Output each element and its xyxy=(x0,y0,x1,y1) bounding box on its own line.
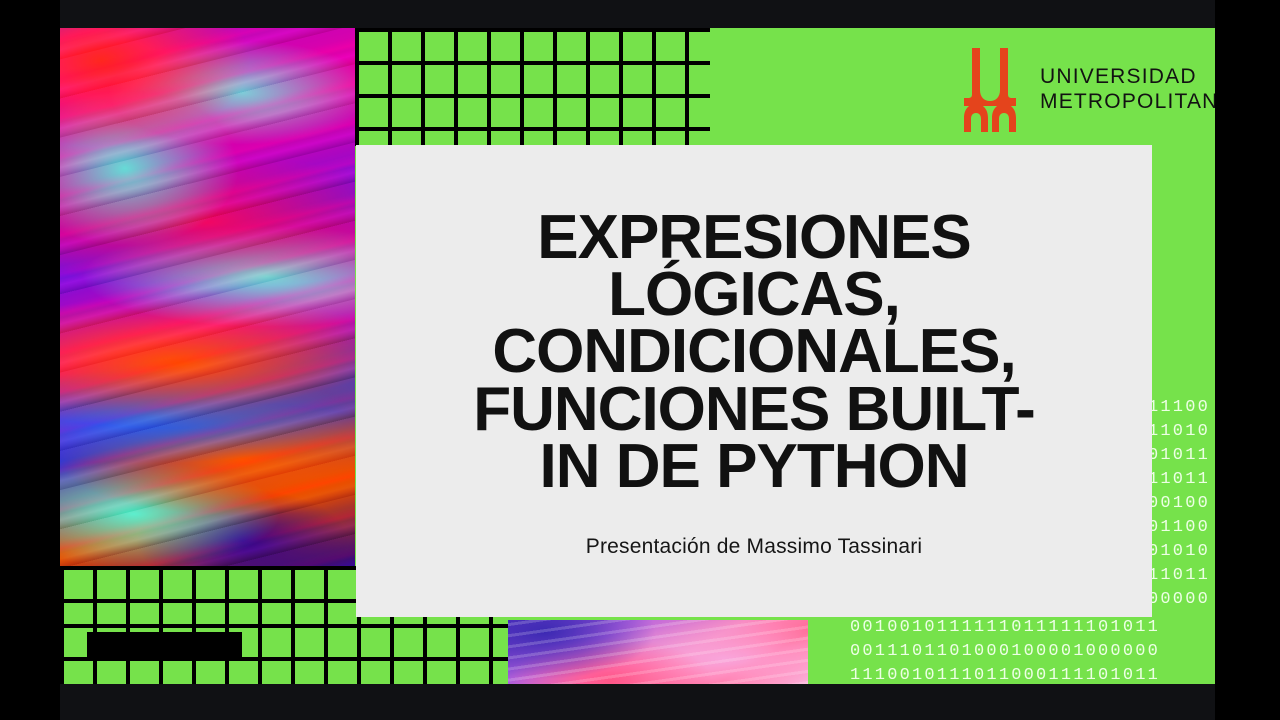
page-title-line: LÓGICAS, xyxy=(382,266,1126,323)
page-title-line: CONDICIONALES, xyxy=(382,323,1126,380)
marbled-fluid-art-bottom xyxy=(508,620,808,684)
green-black-grid-top xyxy=(355,28,710,146)
title-card: EXPRESIONES LÓGICAS, CONDICIONALES, FUNC… xyxy=(356,145,1152,617)
letterbox-bottom xyxy=(0,684,1280,720)
slide-viewer: 11100 11010 01011 11011 00100 01100 0101… xyxy=(0,0,1280,720)
presenter-subtitle: Presentación de Massimo Tassinari xyxy=(586,535,923,559)
page-title: EXPRESIONES LÓGICAS, CONDICIONALES, FUNC… xyxy=(382,209,1126,494)
black-rectangle-accent xyxy=(87,632,242,660)
binary-digits-right: 11100 11010 01011 11011 00100 01100 0101… xyxy=(1148,396,1215,628)
university-logo: UNIVERSIDAD METROPOLITANA xyxy=(960,46,1215,134)
unimet-arches-mark-icon xyxy=(960,46,1020,134)
page-title-line: FUNCIONES BUILT- xyxy=(382,381,1126,438)
page-title-line: IN DE PYTHON xyxy=(382,438,1126,495)
binary-digits-bottom: 0010010111111011111101011 00111011010001… xyxy=(850,616,1215,684)
university-logo-text: UNIVERSIDAD METROPOLITANA xyxy=(1040,65,1215,115)
university-logo-line2: METROPOLITANA xyxy=(1040,90,1215,115)
university-logo-line1: UNIVERSIDAD xyxy=(1040,65,1215,90)
letterbox-left xyxy=(0,0,60,720)
marbled-fluid-art-left xyxy=(60,28,355,568)
presentation-slide: 11100 11010 01011 11011 00100 01100 0101… xyxy=(60,28,1215,684)
letterbox-top xyxy=(0,0,1280,28)
letterbox-right xyxy=(1215,0,1280,720)
page-title-line: EXPRESIONES xyxy=(382,209,1126,266)
